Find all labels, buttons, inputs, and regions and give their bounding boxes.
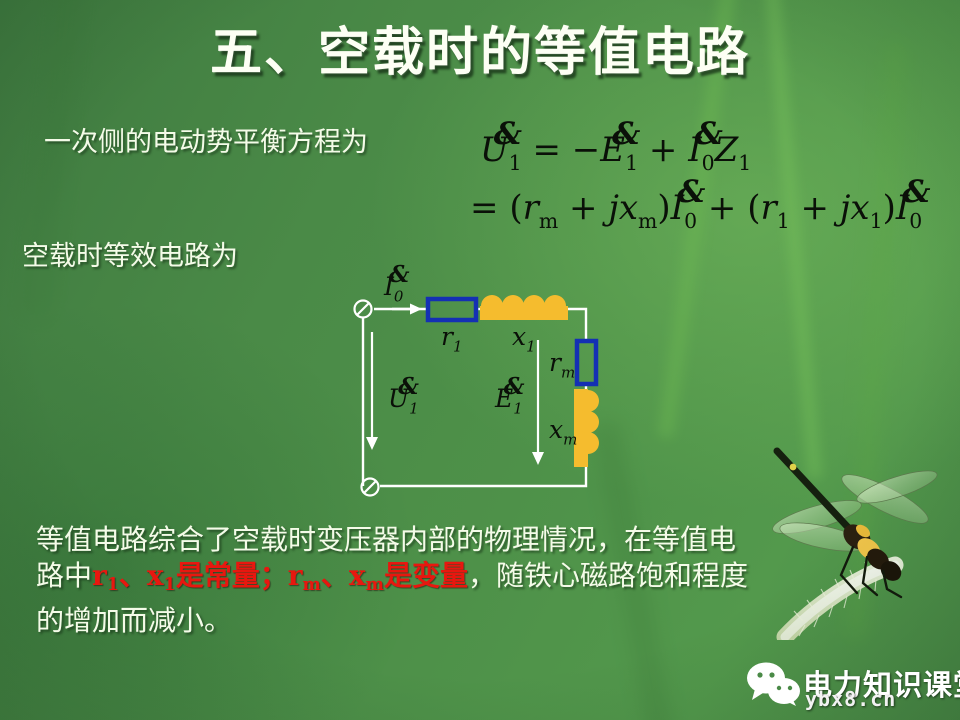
highlight-separator: 、 <box>119 559 147 592</box>
inductor-x1-symbol <box>480 295 568 320</box>
circuit-label-u1: U&1 <box>388 384 419 417</box>
highlight-constant-text: 是常量； <box>176 559 288 592</box>
wire-top-right <box>566 309 586 341</box>
highlight-variable-text: 是变量 <box>384 559 468 592</box>
terminal-bottom-slash <box>364 481 377 494</box>
highlight-r1: r1 <box>92 559 119 592</box>
highlight-xm: xm <box>349 559 384 592</box>
circuit-label-xm: xm <box>549 415 577 448</box>
dot-accent-glyph: & <box>504 373 525 400</box>
circuit-label-e1: E&1 <box>495 384 523 417</box>
highlight-rm: rm <box>288 559 321 592</box>
wire-bottom-right <box>380 466 586 486</box>
highlight-separator: 、 <box>321 559 349 592</box>
circuit-label-x1: x1 <box>512 322 536 355</box>
resistor-r1-symbol <box>428 299 476 320</box>
circuit-label-i0: I&0 <box>384 272 403 305</box>
circuit-label-rm: rm <box>549 348 575 381</box>
conclusion-paragraph: 等值电路综合了空载时变压器内部的物理情况，在等值电路中r1、x1是常量；rm、x… <box>36 522 756 639</box>
inductor-xm-symbol <box>574 389 599 467</box>
slide-canvas: 五、空载时的等值电路 一次侧的电动势平衡方程为 空载时等效电路为 U&1 = −… <box>0 0 960 720</box>
circuit-label-r1: r1 <box>441 322 463 355</box>
resistor-rm-symbol <box>577 341 596 384</box>
wechat-icon <box>745 662 801 706</box>
dot-accent-glyph: & <box>398 373 419 400</box>
terminal-top-slash <box>357 303 370 316</box>
voltage-arrow-e1 <box>532 340 544 465</box>
highlight-x1: x1 <box>147 559 176 592</box>
dot-accent-glyph: & <box>389 261 410 288</box>
voltage-arrow-u1 <box>366 332 378 450</box>
watermark-url: ybx8.cn <box>805 687 896 711</box>
watermark: 电力知识课堂 ybx8.cn <box>745 660 955 712</box>
